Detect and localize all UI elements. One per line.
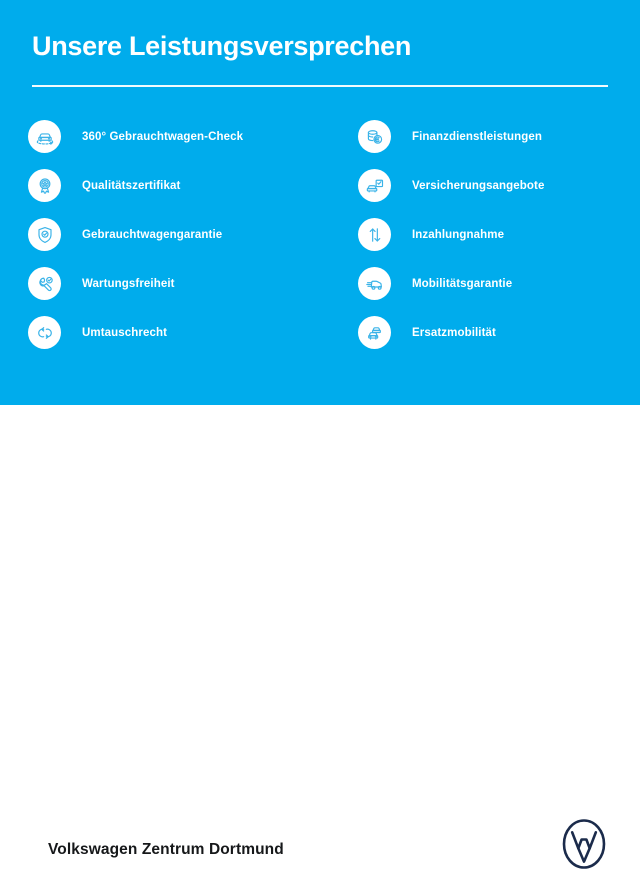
volkswagen-logo-icon: [556, 816, 612, 872]
feature-item-qualitaetszertifikat[interactable]: Qualitätszertifikat: [28, 161, 318, 210]
exchange-arrows-icon: [28, 316, 61, 349]
feature-item-wartungsfreiheit[interactable]: Wartungsfreiheit: [28, 259, 318, 308]
feature-label: Versicherungsangebote: [412, 180, 544, 192]
feature-item-versicherungsangebote[interactable]: Versicherungsangebote: [358, 161, 640, 210]
feature-label: Umtauschrecht: [82, 327, 167, 339]
promo-page: Unsere Leistungsversprechen: [0, 0, 640, 480]
feature-label: 360° Gebrauchtwagen-Check: [82, 131, 243, 143]
hero-panel: Unsere Leistungsversprechen: [0, 0, 640, 405]
feature-item-mobilitaetsgarantie[interactable]: Mobilitätsgarantie: [358, 259, 640, 308]
feature-item-inzahlungnahme[interactable]: Inzahlungnahme: [358, 210, 640, 259]
two-cars-icon: [358, 316, 391, 349]
feature-item-gebrauchtwagen-check[interactable]: 360° Gebrauchtwagen-Check: [28, 112, 318, 161]
page-title: Unsere Leistungsversprechen: [32, 30, 411, 62]
car-document-icon: [358, 169, 391, 202]
up-down-arrows-icon: [358, 218, 391, 251]
shield-check-icon: [28, 218, 61, 251]
feature-columns: 360° Gebrauchtwagen-Check Qualitätszerti…: [0, 112, 640, 372]
footer-bar: Volkswagen Zentrum Dortmund: [0, 405, 640, 480]
feature-item-ersatzmobilitaet[interactable]: Ersatzmobilität: [358, 308, 640, 357]
money-euro-icon: [358, 120, 391, 153]
wrench-check-icon: [28, 267, 61, 300]
feature-column-left: 360° Gebrauchtwagen-Check Qualitätszerti…: [28, 112, 318, 357]
feature-label: Qualitätszertifikat: [82, 180, 180, 192]
car-360-check-icon: [28, 120, 61, 153]
feature-label: Finanzdienstleistungen: [412, 131, 542, 143]
dealer-name: Volkswagen Zentrum Dortmund: [48, 841, 284, 859]
feature-label: Wartungsfreiheit: [82, 278, 175, 290]
feature-label: Inzahlungnahme: [412, 229, 504, 241]
feature-item-gebrauchtwagengarantie[interactable]: Gebrauchtwagengarantie: [28, 210, 318, 259]
van-motion-icon: [358, 267, 391, 300]
feature-item-umtauschrecht[interactable]: Umtauschrecht: [28, 308, 318, 357]
feature-label: Mobilitätsgarantie: [412, 278, 512, 290]
feature-column-right: Finanzdienstleistungen Versicherungsange…: [358, 112, 640, 357]
award-rosette-icon: [28, 169, 61, 202]
title-divider: [32, 85, 608, 87]
feature-item-finanzdienstleistungen[interactable]: Finanzdienstleistungen: [358, 112, 640, 161]
feature-label: Ersatzmobilität: [412, 327, 496, 339]
feature-label: Gebrauchtwagengarantie: [82, 229, 222, 241]
